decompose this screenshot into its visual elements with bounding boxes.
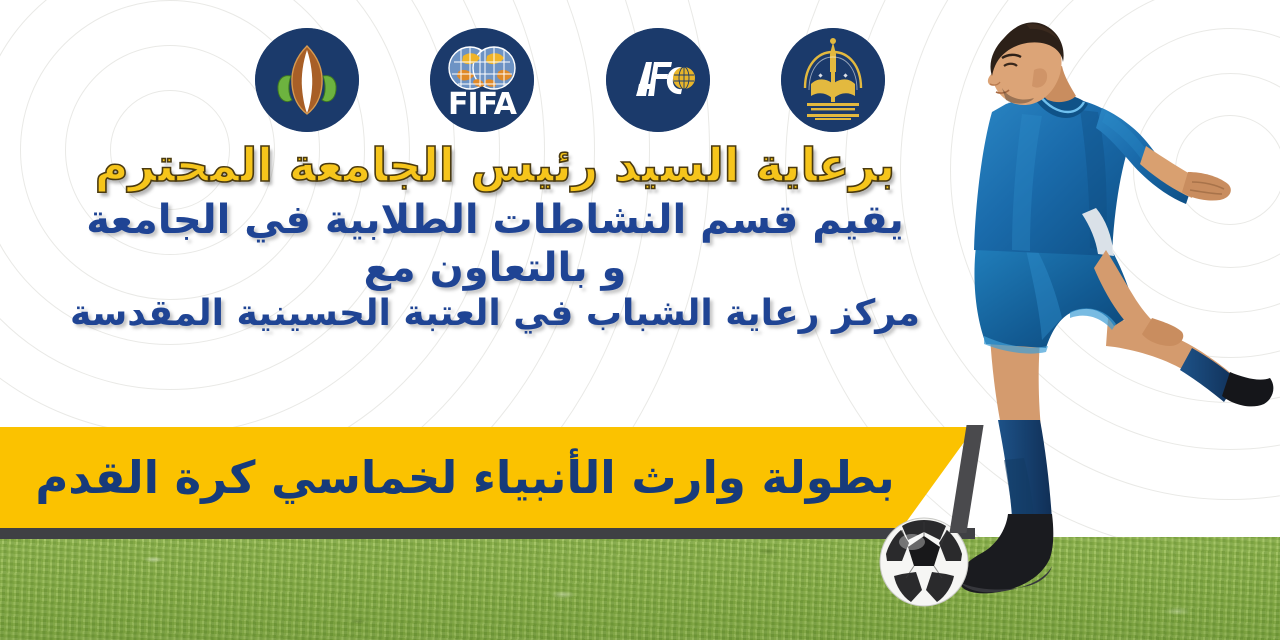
fifa-logo: FIFA xyxy=(430,28,534,132)
banner-underline xyxy=(0,528,975,539)
fifa-wordmark: FIFA xyxy=(448,87,518,122)
headline-line-partner: مركز رعاية الشباب في العتبة الحسينية الم… xyxy=(0,292,990,336)
headline-line-patronage: برعاية السيد رئيس الجامعة المحترم xyxy=(0,138,990,194)
sponsor-logo-row: FIFA xyxy=(255,18,885,142)
tournament-title: بطولة وارث الأنبياء لخماسي كرة القدم xyxy=(0,427,930,528)
headline-line-organizer: يقيم قسم النشاطات الطلابية في الجامعة xyxy=(0,194,990,244)
football-player-photo xyxy=(930,0,1280,640)
tournament-poster: FIFA xyxy=(0,0,1280,640)
warith-al-anbiyaa-university-logo xyxy=(781,28,885,132)
afc-logo xyxy=(606,28,710,132)
headline-line-cooperation: و بالتعاون مع xyxy=(0,244,990,292)
iraq-football-association-logo xyxy=(255,28,359,132)
headline-block: برعاية السيد رئيس الجامعة المحترم يقيم ق… xyxy=(0,138,990,336)
